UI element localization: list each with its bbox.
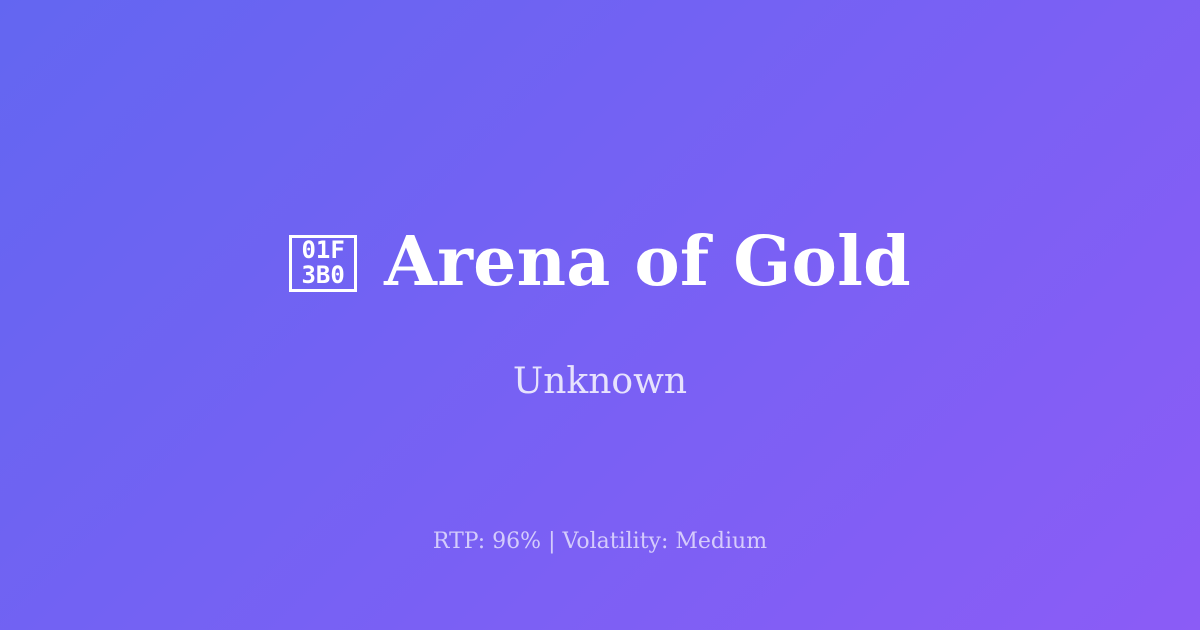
tofu-codepoint-line-1: 01F <box>301 238 344 263</box>
slot-machine-emoji-icon: 01F 3B0 <box>289 235 357 292</box>
title-row: 01F 3B0 Arena of Gold <box>289 227 911 298</box>
page-title: Arena of Gold <box>384 227 911 298</box>
game-provider-subtitle: Unknown <box>513 360 687 403</box>
og-share-card: 01F 3B0 Arena of Gold Unknown RTP: 96% |… <box>0 0 1200 630</box>
tofu-codepoint-line-2: 3B0 <box>301 263 344 288</box>
game-meta-line: RTP: 96% | Volatility: Medium <box>0 529 1200 555</box>
